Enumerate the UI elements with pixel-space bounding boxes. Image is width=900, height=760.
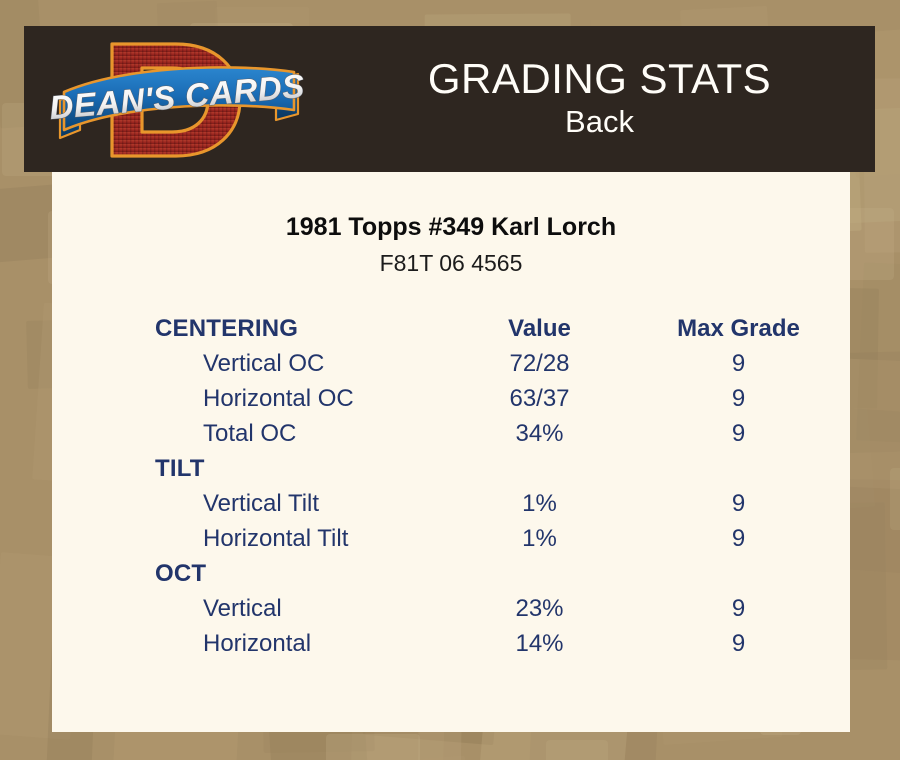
header-bar: DEAN'S CARDS GRADING STATS Back	[24, 26, 875, 172]
stats-row-max-grade: 9	[627, 626, 850, 661]
stats-row: Horizontal OC63/379	[52, 381, 850, 416]
header-title-group: GRADING STATS Back	[324, 26, 875, 172]
stats-row-label: Horizontal OC	[52, 381, 452, 416]
stats-row-max-grade: 9	[627, 416, 850, 451]
stats-row: Vertical23%9	[52, 591, 850, 626]
card-id: F81T 06 4565	[52, 249, 850, 279]
column-header-max-grade: Max Grade	[627, 311, 850, 346]
stats-row-label: Total OC	[52, 416, 452, 451]
stats-row: Horizontal Tilt1%9	[52, 521, 850, 556]
card-title-block: 1981 Topps #349 Karl Lorch F81T 06 4565	[52, 172, 850, 279]
grading-stats-table: CENTERINGValueMax GradeVertical OC72/289…	[52, 311, 850, 661]
page-title: GRADING STATS	[428, 56, 771, 101]
stats-row-max-grade: 9	[627, 521, 850, 556]
stats-row-label: Horizontal	[52, 626, 452, 661]
stats-row-max-grade: 9	[627, 486, 850, 521]
stats-section-grade-spacer	[627, 556, 850, 591]
stats-row: Vertical Tilt1%9	[52, 486, 850, 521]
column-header-value: Value	[452, 311, 627, 346]
stats-row-value: 23%	[452, 591, 627, 626]
stats-section-header: TILT	[52, 451, 850, 486]
card-title: 1981 Topps #349 Karl Lorch	[52, 212, 850, 243]
stats-row-max-grade: 9	[627, 381, 850, 416]
stats-row-label: Vertical OC	[52, 346, 452, 381]
stats-row-label: Horizontal Tilt	[52, 521, 452, 556]
stats-section-grade-spacer	[627, 451, 850, 486]
deans-cards-logo: DEAN'S CARDS	[50, 28, 320, 172]
stats-section-value-spacer	[452, 556, 627, 591]
stats-row-value: 72/28	[452, 346, 627, 381]
stats-row-value: 14%	[452, 626, 627, 661]
stats-row: Total OC34%9	[52, 416, 850, 451]
stats-row-value: 34%	[452, 416, 627, 451]
stats-section-value-spacer	[452, 451, 627, 486]
stats-row-label: Vertical Tilt	[52, 486, 452, 521]
content-panel: 1981 Topps #349 Karl Lorch F81T 06 4565 …	[52, 172, 850, 732]
stats-row: Horizontal14%9	[52, 626, 850, 661]
stats-row-value: 1%	[452, 521, 627, 556]
stats-row-max-grade: 9	[627, 346, 850, 381]
page-subtitle: Back	[565, 103, 634, 142]
stats-row-value: 1%	[452, 486, 627, 521]
stats-row-label: Vertical	[52, 591, 452, 626]
stats-section-name: TILT	[52, 451, 452, 486]
stats-section-name: CENTERING	[52, 311, 452, 346]
stats-row-value: 63/37	[452, 381, 627, 416]
stats-section-header: CENTERINGValueMax Grade	[52, 311, 850, 346]
stats-section-name: OCT	[52, 556, 452, 591]
stats-row-max-grade: 9	[627, 591, 850, 626]
stats-row: Vertical OC72/289	[52, 346, 850, 381]
stats-section-header: OCT	[52, 556, 850, 591]
